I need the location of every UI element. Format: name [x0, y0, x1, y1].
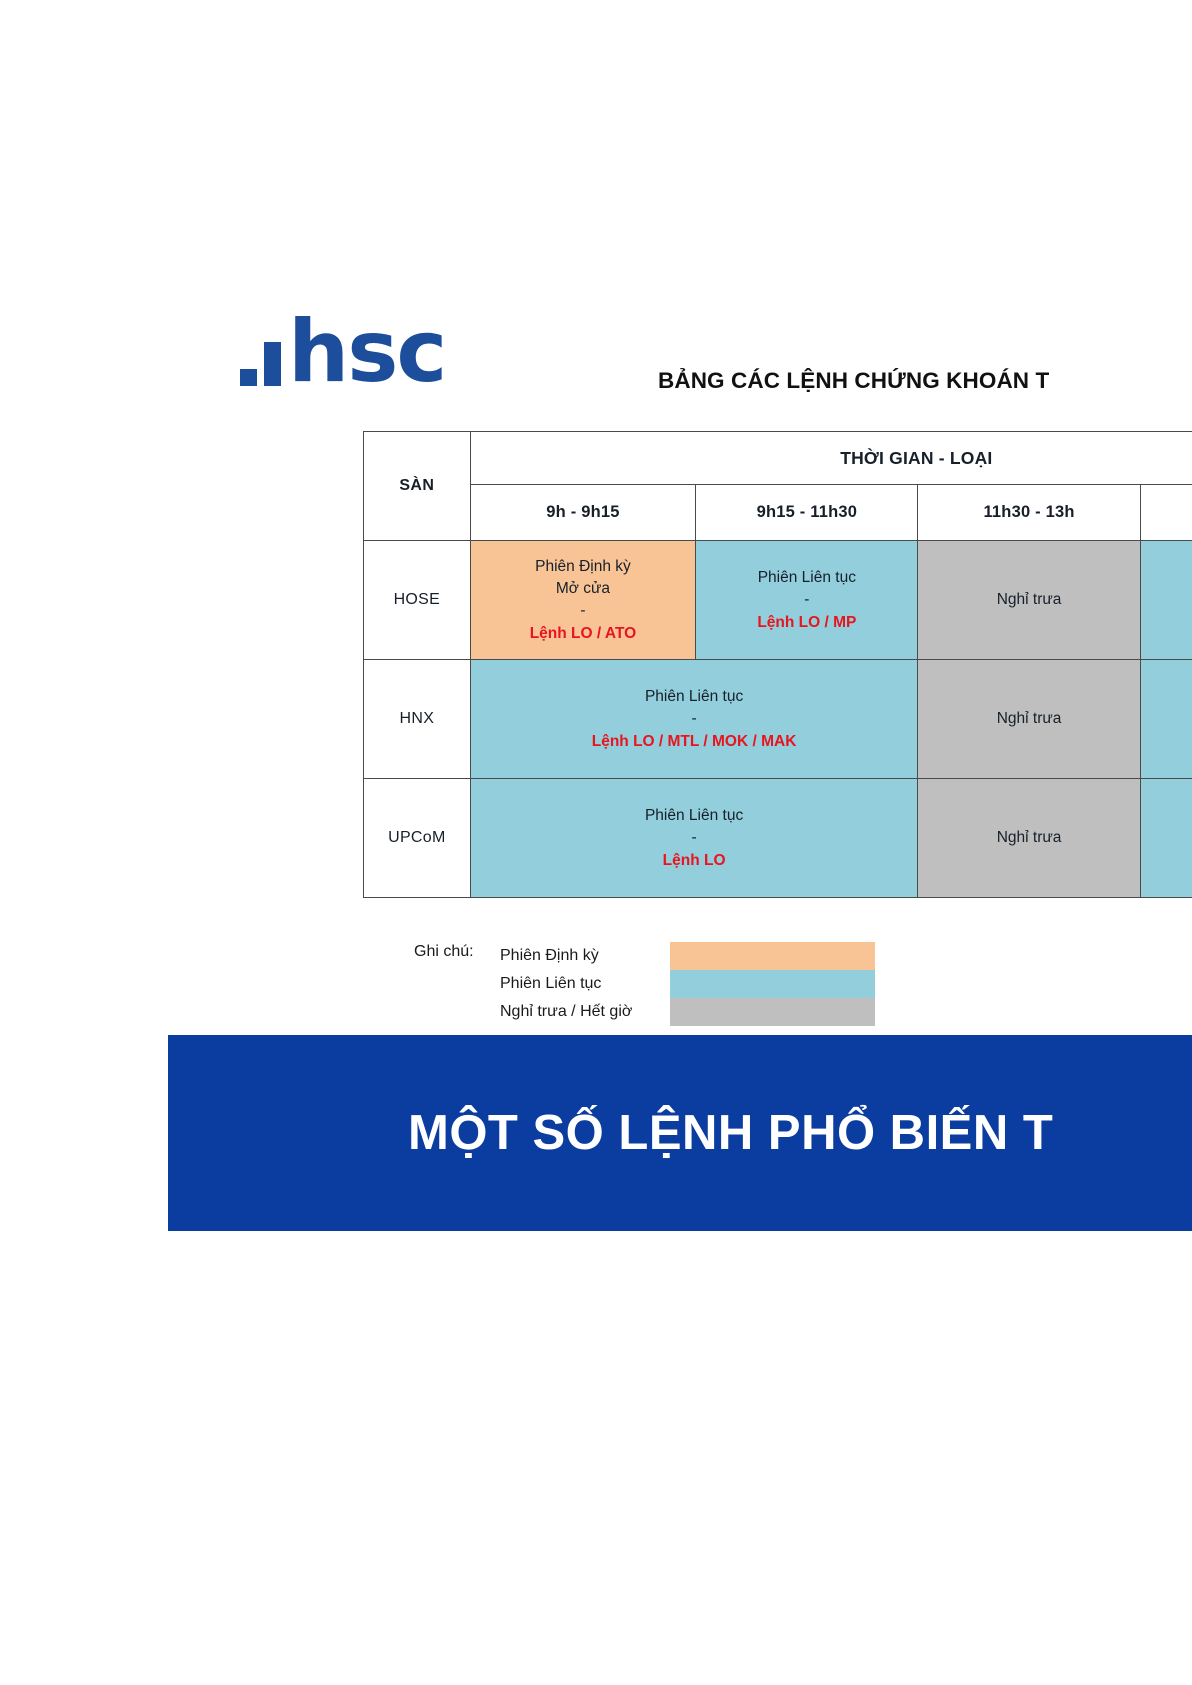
session-label: Nghỉ trưa	[997, 710, 1062, 727]
legend-item-label: Nghỉ trưa / Hết giờ	[500, 1003, 670, 1021]
cell-upcom-slot4	[1140, 779, 1192, 898]
cell-hose-slot4	[1140, 541, 1192, 660]
legend-swatch-continuous	[670, 970, 875, 998]
separator-dash: -	[696, 589, 917, 611]
row-exchange-hnx: HNX	[364, 660, 471, 779]
legend-swatch-break	[670, 998, 875, 1026]
legend-rows: Phiên Định kỳ Phiên Liên tục Nghỉ trưa /…	[500, 942, 875, 1026]
logo-square-tall-icon	[264, 342, 281, 386]
cell-hose-slot1: Phiên Định kỳ Mở cửa - Lệnh LO / ATO	[470, 541, 696, 660]
order-types: Lệnh LO / ATO	[471, 623, 696, 645]
order-types: Lệnh LO	[471, 850, 918, 872]
page-title: BẢNG CÁC LỆNH CHỨNG KHOÁN T	[658, 368, 1049, 394]
table-header-group-row: SÀN THỜI GIAN - LOẠI	[364, 432, 1192, 485]
row-exchange-upcom: UPCoM	[364, 779, 471, 898]
legend-item-label: Phiên Liên tục	[500, 975, 670, 993]
order-types: Lệnh LO / MP	[696, 612, 917, 634]
separator-dash: -	[471, 708, 918, 730]
session-label: Phiên Định kỳ	[535, 558, 631, 575]
table-row: HNX Phiên Liên tục - Lệnh LO / MTL / MOK…	[364, 660, 1192, 779]
cell-upcom-slot3: Nghỉ trưa	[918, 779, 1140, 898]
table-row: UPCoM Phiên Liên tục - Lệnh LO Nghỉ trưa	[364, 779, 1192, 898]
session-label: Phiên Liên tục	[645, 807, 743, 824]
logo-square-small-icon	[240, 369, 257, 386]
hsc-logo-mark: hsc	[240, 319, 445, 386]
session-label: Phiên Liên tục	[645, 688, 743, 705]
row-exchange-hose: HOSE	[364, 541, 471, 660]
header-time-slot-1: 9h - 9h15	[470, 485, 696, 541]
session-sublabel: Mở cửa	[556, 580, 610, 597]
session-label: Nghỉ trưa	[997, 591, 1062, 608]
separator-dash: -	[471, 827, 918, 849]
legend-swatch-periodic	[670, 942, 875, 970]
header-exchange: SÀN	[364, 432, 471, 541]
cell-hnx-slot3: Nghỉ trưa	[918, 660, 1140, 779]
order-types: Lện	[1141, 709, 1192, 731]
securities-order-table: SÀN THỜI GIAN - LOẠI 9h - 9h15 9h15 - 11…	[363, 431, 1192, 898]
legend-item-break: Nghỉ trưa / Hết giờ	[500, 998, 875, 1026]
cell-hnx-slot4: Lện	[1140, 660, 1192, 779]
table-header-time-row: 9h - 9h15 9h15 - 11h30 11h30 - 13h	[364, 485, 1192, 541]
header-time-slot-2: 9h15 - 11h30	[696, 485, 918, 541]
order-types: Lệnh LO / MTL / MOK / MAK	[471, 731, 918, 753]
legend-item-label: Phiên Định kỳ	[500, 947, 670, 965]
header-time-group: THỜI GIAN - LOẠI	[470, 432, 1192, 485]
cell-hose-slot2: Phiên Liên tục - Lệnh LO / MP	[696, 541, 918, 660]
cell-upcom-slot1-2: Phiên Liên tục - Lệnh LO	[470, 779, 918, 898]
legend-item-periodic: Phiên Định kỳ	[500, 942, 875, 970]
logo-wordmark: hsc	[288, 319, 445, 386]
separator-dash: -	[471, 600, 696, 622]
legend: Ghi chú: Phiên Định kỳ Phiên Liên tục Ng…	[414, 942, 875, 1026]
header-time-slot-4	[1140, 485, 1192, 541]
legend-item-continuous: Phiên Liên tục	[500, 970, 875, 998]
session-label: Nghỉ trưa	[997, 829, 1062, 846]
legend-label: Ghi chú:	[414, 942, 500, 961]
cell-hnx-slot1-2: Phiên Liên tục - Lệnh LO / MTL / MOK / M…	[470, 660, 918, 779]
hsc-logo-block: hsc	[168, 228, 564, 400]
bottom-banner: MỘT SỐ LỆNH PHỔ BIẾN T	[168, 1035, 1192, 1231]
header-time-slot-3: 11h30 - 13h	[918, 485, 1140, 541]
cell-hose-slot3: Nghỉ trưa	[918, 541, 1140, 660]
table-row: HOSE Phiên Định kỳ Mở cửa - Lệnh LO / AT…	[364, 541, 1192, 660]
banner-title: MỘT SỐ LỆNH PHỔ BIẾN T	[168, 1105, 1053, 1161]
session-label: Phiên Liên tục	[758, 569, 856, 586]
